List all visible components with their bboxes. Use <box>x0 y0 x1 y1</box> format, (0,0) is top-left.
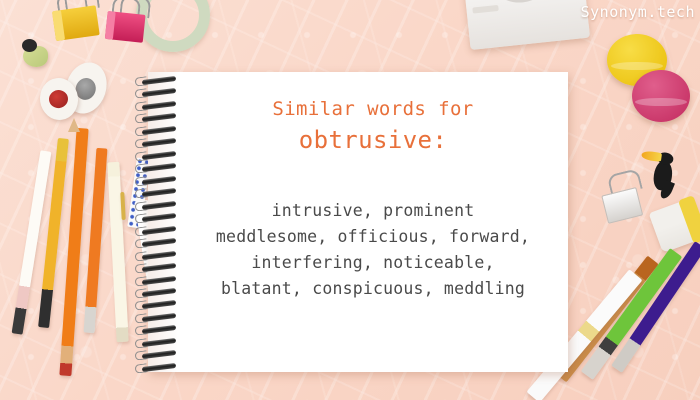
page-title-prefix: Similar words for <box>192 94 554 124</box>
synonym-list: intrusive, prominent meddlesome, officio… <box>192 198 554 302</box>
spiral-ring <box>142 253 184 258</box>
spiral-ring <box>142 140 184 145</box>
spiral-ring <box>142 178 184 183</box>
spiral-ring <box>142 78 184 83</box>
spiral-ring <box>142 340 184 345</box>
synonym-line: blatant, conspicuous, meddling <box>192 276 554 302</box>
synonym-line: interfering, noticeable, <box>192 250 554 276</box>
spiral-ring <box>142 228 184 233</box>
synonym-line: meddlesome, officious, forward, <box>192 224 554 250</box>
page-title-headword: obtrusive: <box>192 124 554 156</box>
synonym-line: intrusive, prominent <box>192 198 554 224</box>
spiral-ring <box>142 153 184 158</box>
spiral-ring <box>142 265 184 270</box>
spiral-ring <box>142 315 184 320</box>
spiral-ring <box>142 327 184 332</box>
spiral-ring <box>142 190 184 195</box>
spiral-ring <box>142 115 184 120</box>
notepad-content: Similar words for obtrusive: intrusive, … <box>192 94 554 302</box>
spiral-ring <box>142 365 184 370</box>
spiral-ring <box>142 165 184 170</box>
notepad: Similar words for obtrusive: intrusive, … <box>148 72 568 372</box>
spiral-ring <box>142 103 184 108</box>
binder-clip-yellow <box>49 0 105 49</box>
binder-clip-pink <box>102 6 150 52</box>
spiral-ring <box>142 352 184 357</box>
spiral-ring <box>142 215 184 220</box>
spiral-ring <box>142 128 184 133</box>
macaron-pink <box>632 70 690 122</box>
spiral-ring <box>142 278 184 283</box>
spiral-ring <box>142 203 184 208</box>
spiral-binding <box>138 78 184 370</box>
spiral-ring <box>142 302 184 307</box>
spiral-ring <box>142 90 184 95</box>
site-logo[interactable]: Synonym.tech <box>581 3 695 21</box>
spiral-ring <box>142 290 184 295</box>
spiral-ring <box>142 240 184 245</box>
pencil-tip <box>68 118 80 132</box>
bird-eraser <box>20 38 50 68</box>
desk-scene: Similar words for obtrusive: intrusive, … <box>0 0 700 400</box>
